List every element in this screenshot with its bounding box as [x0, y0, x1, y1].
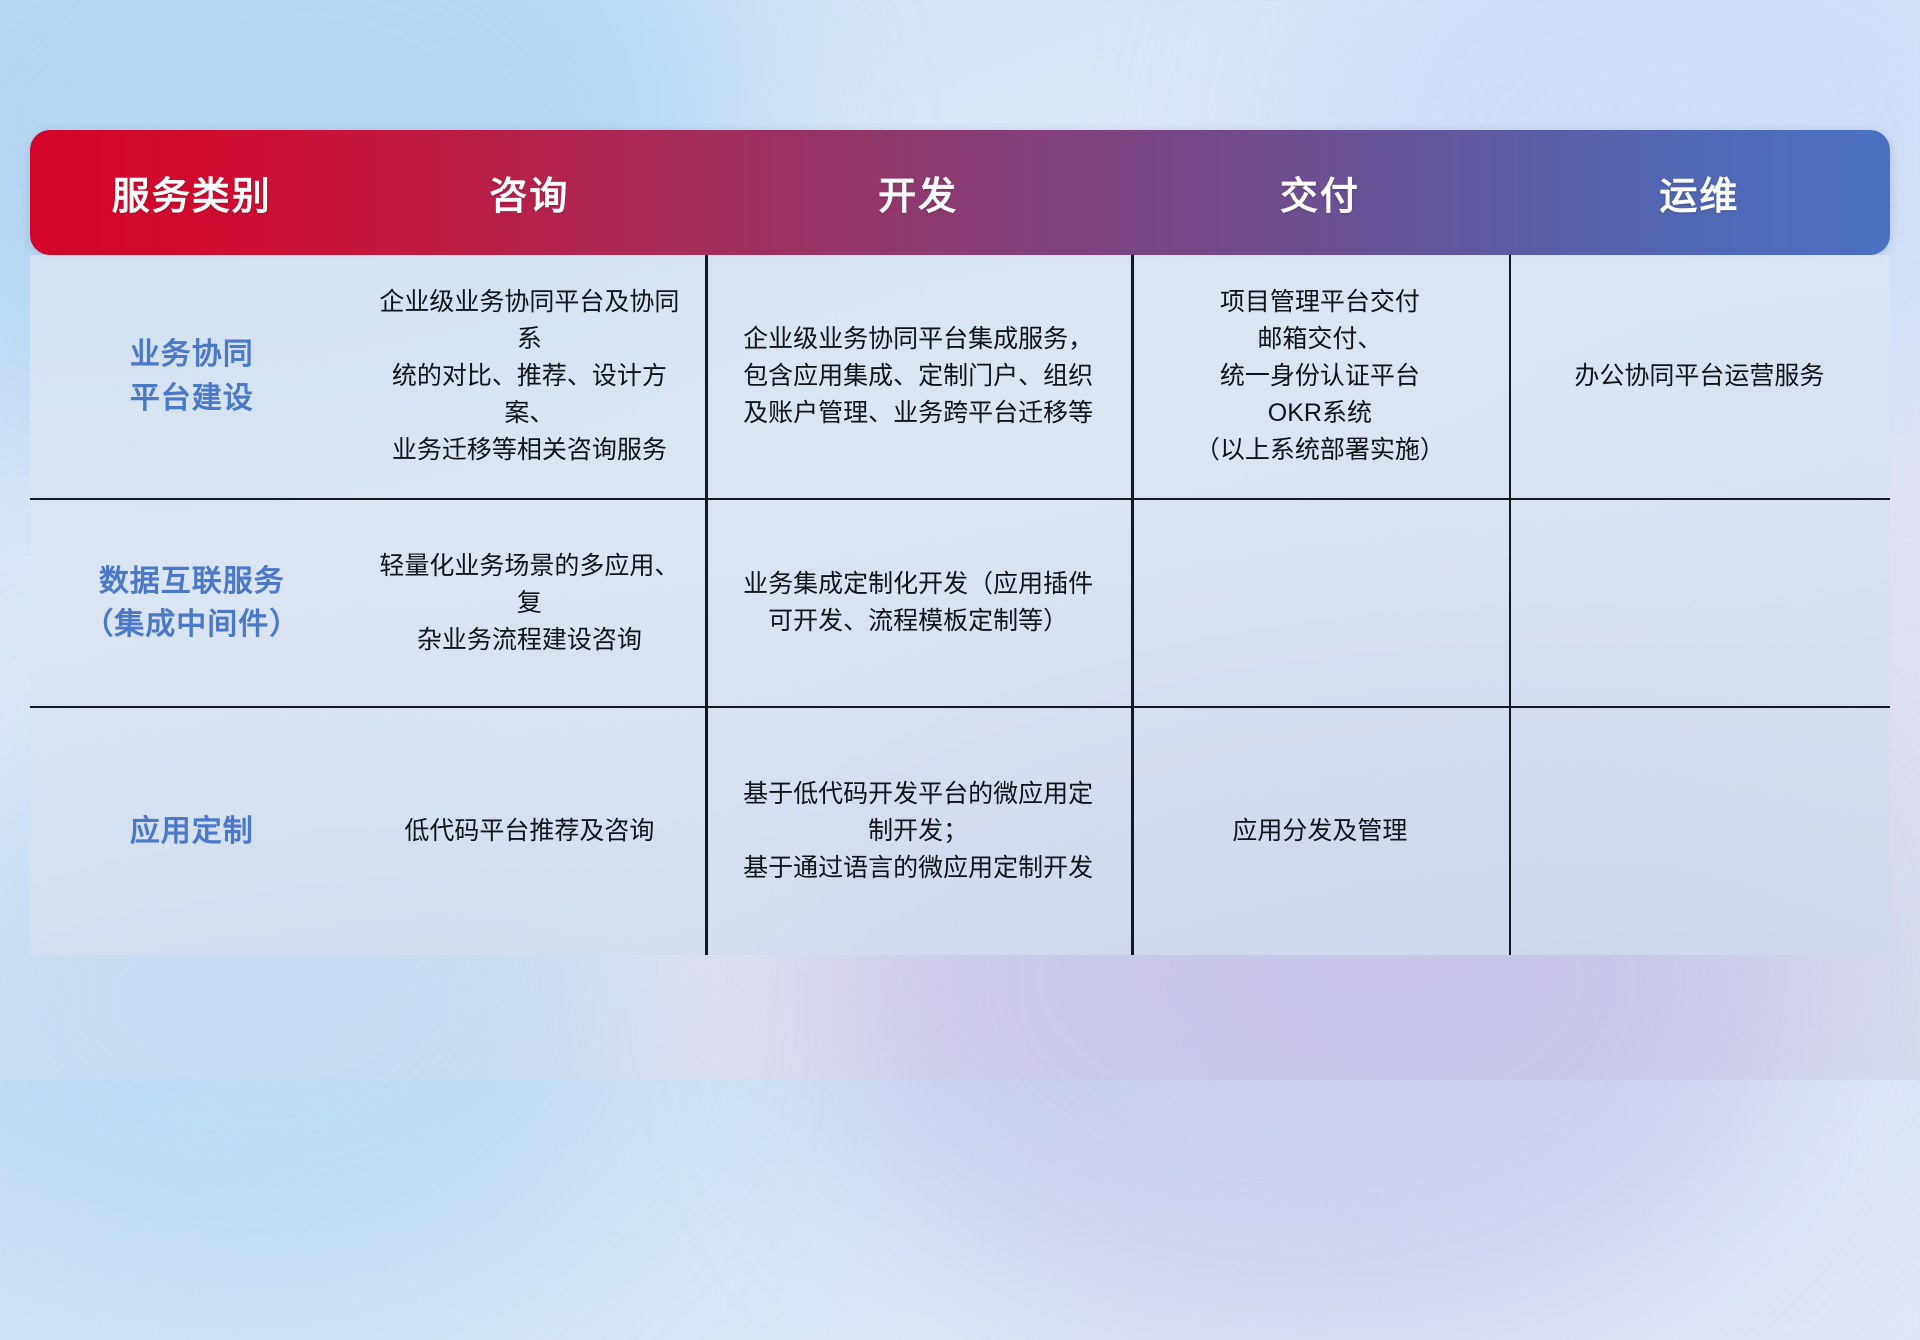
- cell-development: 基于低代码开发平台的微应用定 制开发； 基于通过语言的微应用定制开发: [705, 708, 1131, 955]
- cell-text: 业务集成定制化开发（应用插件 可开发、流程模板定制等）: [743, 566, 1093, 640]
- column-header-consulting: 咨询: [354, 130, 706, 255]
- cell-delivery: [1131, 500, 1509, 706]
- cell-text: 轻量化业务场景的多应用、复 杂业务流程建设咨询: [370, 548, 690, 659]
- slide-canvas: 服务类别 咨询 开发 交付 运维 业务协同 平台建设 企业级业务协同平台及协同: [0, 0, 1920, 1080]
- column-header-label: 开发: [878, 165, 958, 220]
- cell-consulting: 轻量化业务场景的多应用、复 杂业务流程建设咨询: [354, 500, 706, 706]
- category-label: 应用定制: [130, 810, 254, 854]
- table-header-row: 服务类别 咨询 开发 交付 运维: [30, 130, 1890, 255]
- cell-category: 业务协同 平台建设: [30, 255, 354, 498]
- table-row: 应用定制 低代码平台推荐及咨询 基于低代码开发平台的微应用定 制开发； 基于通过…: [30, 708, 1890, 955]
- column-header-delivery: 交付: [1131, 130, 1509, 255]
- cell-text: 企业级业务协同平台集成服务， 包含应用集成、定制门户、组织 及账户管理、业务跨平…: [743, 321, 1093, 432]
- column-header-service-category: 服务类别: [30, 130, 354, 255]
- cell-development: 企业级业务协同平台集成服务， 包含应用集成、定制门户、组织 及账户管理、业务跨平…: [705, 255, 1131, 498]
- category-label: 数据互联服务 （集成中间件）: [83, 560, 300, 647]
- column-header-operations: 运维: [1509, 130, 1890, 255]
- cell-category: 应用定制: [30, 708, 354, 955]
- cell-development: 业务集成定制化开发（应用插件 可开发、流程模板定制等）: [705, 500, 1131, 706]
- service-matrix-table: 服务类别 咨询 开发 交付 运维 业务协同 平台建设 企业级业务协同平台及协同: [30, 130, 1890, 955]
- cell-delivery: 项目管理平台交付 邮箱交付、 统一身份认证平台 OKR系统 （以上系统部署实施）: [1131, 255, 1509, 498]
- column-header-label: 服务类别: [112, 165, 272, 220]
- table-row: 数据互联服务 （集成中间件） 轻量化业务场景的多应用、复 杂业务流程建设咨询 业…: [30, 500, 1890, 708]
- cell-text: 基于低代码开发平台的微应用定 制开发； 基于通过语言的微应用定制开发: [743, 776, 1093, 887]
- cell-text: 低代码平台推荐及咨询: [404, 813, 654, 850]
- column-header-label: 运维: [1659, 165, 1739, 220]
- cell-text: 企业级业务协同平台及协同系 统的对比、推荐、设计方案、 业务迁移等相关咨询服务: [370, 284, 690, 469]
- cell-consulting: 低代码平台推荐及咨询: [354, 708, 706, 955]
- column-header-label: 咨询: [489, 165, 569, 220]
- cell-category: 数据互联服务 （集成中间件）: [30, 500, 354, 706]
- cell-operations: [1509, 708, 1890, 955]
- cell-text: 项目管理平台交付 邮箱交付、 统一身份认证平台 OKR系统 （以上系统部署实施）: [1195, 284, 1445, 469]
- column-header-label: 交付: [1280, 165, 1360, 220]
- cell-operations: [1509, 500, 1890, 706]
- cell-text: 应用分发及管理: [1232, 813, 1407, 850]
- category-label: 业务协同 平台建设: [130, 333, 254, 420]
- table-row: 业务协同 平台建设 企业级业务协同平台及协同系 统的对比、推荐、设计方案、 业务…: [30, 255, 1890, 500]
- table-body: 业务协同 平台建设 企业级业务协同平台及协同系 统的对比、推荐、设计方案、 业务…: [30, 255, 1890, 955]
- cell-delivery: 应用分发及管理: [1131, 708, 1509, 955]
- cell-text: 办公协同平台运营服务: [1574, 358, 1824, 395]
- cell-consulting: 企业级业务协同平台及协同系 统的对比、推荐、设计方案、 业务迁移等相关咨询服务: [354, 255, 706, 498]
- cell-operations: 办公协同平台运营服务: [1509, 255, 1890, 498]
- column-header-development: 开发: [705, 130, 1131, 255]
